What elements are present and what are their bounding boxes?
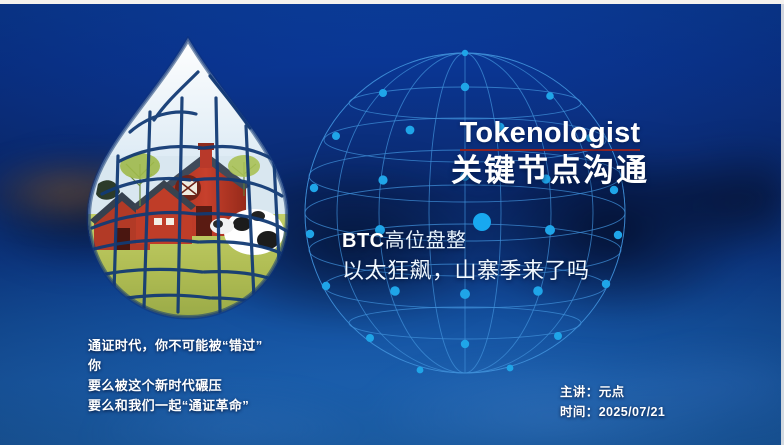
title-english: Tokenologist: [460, 118, 641, 151]
title-block: Tokenologist 关键节点沟通: [420, 118, 680, 189]
subtitle-line-2: 以太狂飙，山寨季来了吗: [342, 256, 590, 287]
top-edge-strip: [0, 0, 784, 4]
tagline-line: 要么被这个新时代碾压: [88, 376, 263, 396]
presentation-date: 时间：2025/07/21: [560, 402, 665, 422]
tagline-line: 你: [88, 356, 263, 376]
subtitle-btc-label: BTC: [342, 230, 385, 252]
subtitle-line-1: BTC高位盘整: [342, 226, 590, 256]
subtitle-block: BTC高位盘整 以太狂飙，山寨季来了吗: [342, 226, 590, 287]
presenter-info: 主讲：元点 时间：2025/07/21: [560, 382, 665, 422]
presenter-name: 主讲：元点: [560, 382, 665, 402]
presentation-slide: Tokenologist 关键节点沟通 BTC高位盘整 以太狂飙，山寨季来了吗 …: [0, 0, 784, 445]
title-chinese: 关键节点沟通: [420, 153, 680, 189]
tagline-block: 通证时代，你不可能被“错过” 你 要么被这个新时代碾压 要么和我们一起“通证革命…: [88, 336, 263, 417]
teardrop-farm-mosaic: [78, 36, 298, 321]
wireframe-globe: [300, 48, 630, 378]
subtitle-line-1-cn: 高位盘整: [385, 230, 467, 252]
tagline-line: 通证时代，你不可能被“错过”: [88, 336, 263, 356]
tagline-line: 要么和我们一起“通证革命”: [88, 396, 263, 416]
